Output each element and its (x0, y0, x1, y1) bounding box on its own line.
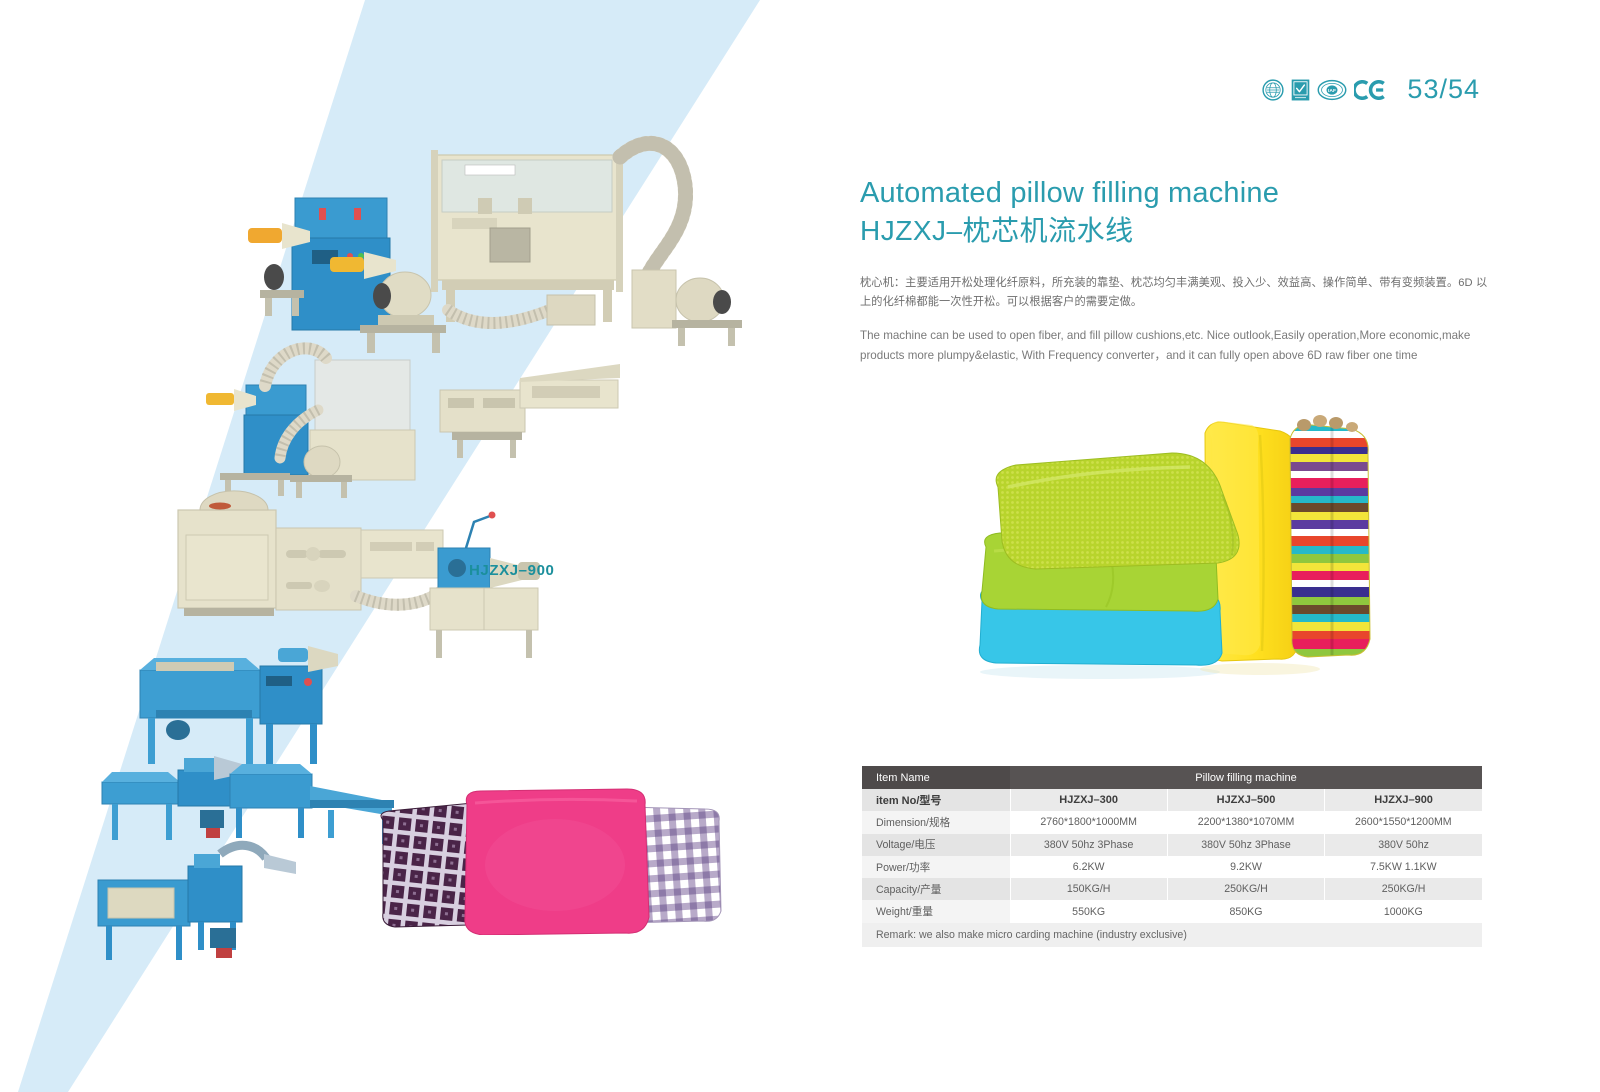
row-value: 2760*1800*1000MM (1010, 811, 1167, 833)
machine-row-2 (206, 348, 620, 498)
table-remark-row: Remark: we also make micro carding machi… (862, 923, 1482, 947)
iso-certification-icon (1262, 79, 1284, 101)
svg-text:IAF: IAF (1328, 88, 1336, 94)
row-value: 1000KG (1325, 900, 1482, 922)
row-label: Capacity/产量 (862, 878, 1010, 900)
table-row: Voltage/电压 380V 50hz 3Phase 380V 50hz 3P… (862, 834, 1482, 856)
row-value: 380V 50hz (1325, 834, 1482, 856)
machine-row-5 (102, 756, 394, 844)
row-value: 2200*1380*1070MM (1167, 811, 1324, 833)
table-row: Capacity/产量 150KG/H 250KG/H 250KG/H (862, 878, 1482, 900)
specification-table: Item Name Pillow filling machine item No… (862, 766, 1482, 947)
row-value: 380V 50hz 3Phase (1010, 834, 1167, 856)
row-label: Weight/重量 (862, 900, 1010, 922)
pillows-right-photo (960, 395, 1380, 680)
quality-check-certification-icon (1291, 79, 1310, 101)
header-item-name: Item Name (862, 766, 1010, 789)
iaf-certification-icon: IAF (1317, 79, 1347, 101)
row-label: Voltage/电压 (862, 834, 1010, 856)
row-value: 250KG/H (1167, 878, 1324, 900)
row-label: Dimension/规格 (862, 811, 1010, 833)
remark-text: Remark: we also make micro carding machi… (862, 923, 1482, 947)
row-value: 250KG/H (1325, 878, 1482, 900)
row-value: HJZXJ–500 (1167, 789, 1324, 811)
table-row: Power/功率 6.2KW 9.2KW 7.5KW 1.1KW (862, 856, 1482, 878)
table-row: Weight/重量 550KG 850KG 1000KG (862, 900, 1482, 922)
row-value: HJZXJ–300 (1010, 789, 1167, 811)
product-title-en: Automated pillow filling machine (860, 175, 1490, 212)
product-info-panel: Automated pillow filling machine HJZXJ–枕… (860, 175, 1490, 366)
certification-bar: IAF 53/54 (1262, 74, 1480, 105)
product-description-en: The machine can be used to open fiber, a… (860, 326, 1490, 366)
row-label: item No/型号 (862, 789, 1010, 811)
pillows-left-photo (365, 775, 730, 935)
ce-marking-icon (1354, 79, 1386, 101)
machine-model-label: HJZXJ–900 (469, 562, 554, 579)
row-label: Power/功率 (862, 856, 1010, 878)
table-row: item No/型号 HJZXJ–300 HJZXJ–500 HJZXJ–900 (862, 789, 1482, 811)
header-group-title: Pillow filling machine (1010, 766, 1482, 789)
row-value: 6.2KW (1010, 856, 1167, 878)
row-value: 850KG (1167, 900, 1324, 922)
machine-row-4 (140, 646, 338, 764)
row-value: 7.5KW 1.1KW (1325, 856, 1482, 878)
row-value: 2600*1550*1200MM (1325, 811, 1482, 833)
product-description-cn: 枕心机：主要适用开松处理化纤原料，所充装的靠垫、枕芯均匀丰满美观、投入少、效益高… (860, 274, 1490, 313)
row-value: 150KG/H (1010, 878, 1167, 900)
product-title-cn: HJZXJ–枕芯机流水线 (860, 213, 1490, 249)
row-value: 550KG (1010, 900, 1167, 922)
row-value: HJZXJ–900 (1325, 789, 1482, 811)
page-number: 53/54 (1407, 74, 1480, 105)
table-row: Dimension/规格 2760*1800*1000MM 2200*1380*… (862, 811, 1482, 833)
machine-row-6 (98, 845, 296, 960)
row-value: 9.2KW (1167, 856, 1324, 878)
row-value: 380V 50hz 3Phase (1167, 834, 1324, 856)
table-header-row: Item Name Pillow filling machine (862, 766, 1482, 789)
machine-row-1 (248, 143, 742, 353)
